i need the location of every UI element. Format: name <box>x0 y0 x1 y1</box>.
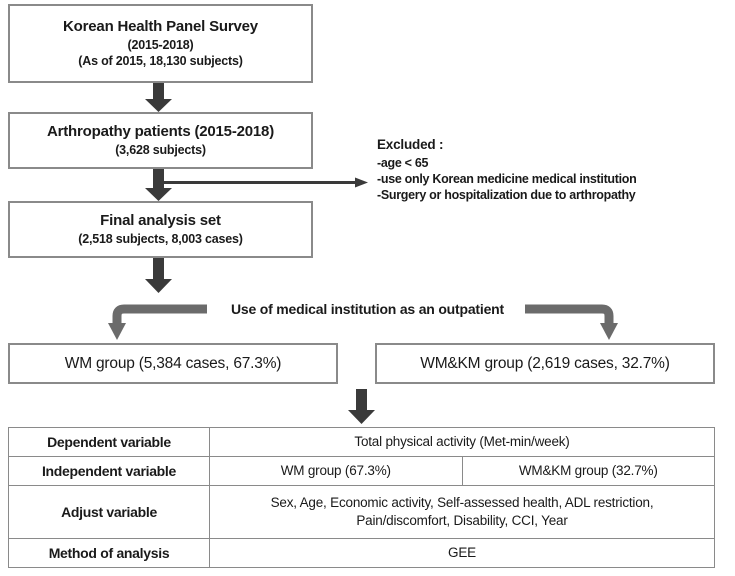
table-row: Adjust variable Sex, Age, Economic activ… <box>9 486 715 539</box>
row-label-method-of-analysis: Method of analysis <box>9 539 210 568</box>
survey-title: Korean Health Panel Survey <box>63 18 258 36</box>
row-value-independent-wmkm: WM&KM group (32.7%) <box>462 457 715 486</box>
row-value-independent-wm: WM group (67.3%) <box>210 457 463 486</box>
arrow-groups-to-table <box>348 389 375 424</box>
node-wmkm-group: WM&KM group (2,619 cases, 32.7%) <box>375 343 715 384</box>
excluded-item-surgery: -Surgery or hospitalization due to arthr… <box>377 187 727 203</box>
flowchart-canvas: Korean Health Panel Survey (2015-2018) (… <box>0 0 735 576</box>
analysis-summary-table: Dependent variable Total physical activi… <box>8 427 715 568</box>
final-counts: (2,518 subjects, 8,003 cases) <box>78 232 242 247</box>
row-label-independent-variable: Independent variable <box>9 457 210 486</box>
arthropathy-subjects: (3,628 subjects) <box>115 143 206 158</box>
row-value-dependent-variable: Total physical activity (Met-min/week) <box>210 428 715 457</box>
excluded-item-age: -age < 65 <box>377 155 727 171</box>
row-value-adjust-variable: Sex, Age, Economic activity, Self-assess… <box>210 486 715 539</box>
excluded-item-km-only: -use only Korean medicine medical instit… <box>377 171 727 187</box>
table-row: Dependent variable Total physical activi… <box>9 428 715 457</box>
wm-group-label: WM group (5,384 cases, 67.3%) <box>65 355 281 373</box>
node-arthropathy-patients: Arthropathy patients (2015-2018) (3,628 … <box>8 112 313 169</box>
table-row: Independent variable WM group (67.3%) WM… <box>9 457 715 486</box>
adjust-variable-line-2: Pain/discomfort, Disability, CCI, Year <box>210 512 714 530</box>
row-label-dependent-variable: Dependent variable <box>9 428 210 457</box>
row-label-adjust-variable: Adjust variable <box>9 486 210 539</box>
final-title: Final analysis set <box>100 212 221 230</box>
arrow-final-to-split <box>145 258 172 293</box>
arrow-survey-to-arthropathy <box>145 83 172 112</box>
arrow-arthropathy-to-final <box>145 169 172 201</box>
wmkm-group-label: WM&KM group (2,619 cases, 32.7%) <box>420 355 669 373</box>
split-criterion-label: Use of medical institution as an outpati… <box>0 301 735 317</box>
row-value-method-of-analysis: GEE <box>210 539 715 568</box>
arrow-to-excluded <box>158 178 368 188</box>
survey-subjects: (As of 2015, 18,130 subjects) <box>78 54 242 69</box>
excluded-criteria-block: Excluded : -age < 65 -use only Korean me… <box>377 136 727 203</box>
node-wm-group: WM group (5,384 cases, 67.3%) <box>8 343 338 384</box>
node-korean-health-panel-survey: Korean Health Panel Survey (2015-2018) (… <box>8 4 313 83</box>
table-row: Method of analysis GEE <box>9 539 715 568</box>
adjust-variable-line-1: Sex, Age, Economic activity, Self-assess… <box>210 494 714 512</box>
node-final-analysis-set: Final analysis set (2,518 subjects, 8,00… <box>8 201 313 258</box>
excluded-heading: Excluded : <box>377 136 727 154</box>
survey-period: (2015-2018) <box>128 38 194 53</box>
arthropathy-title: Arthropathy patients (2015-2018) <box>47 123 274 141</box>
